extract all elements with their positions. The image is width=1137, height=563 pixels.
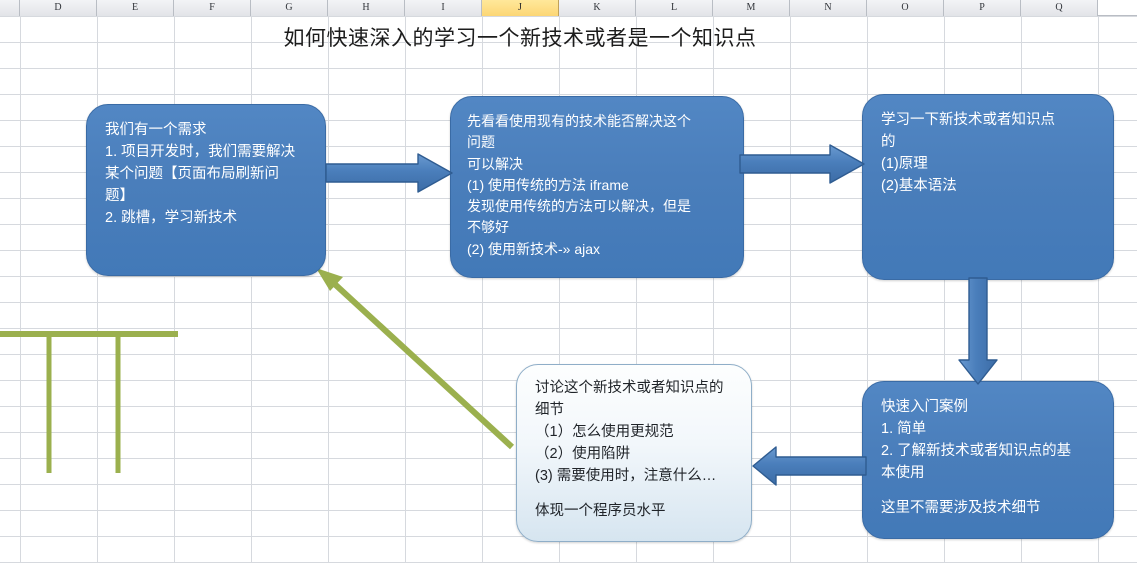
column-header-h[interactable]: H xyxy=(328,0,405,16)
column-header-q[interactable]: Q xyxy=(1021,0,1098,16)
node-line: (1) 使用传统的方法 iframe xyxy=(467,175,729,196)
flow-node-existing-tech[interactable]: 先看看使用现有的技术能否解决这个 问题 可以解决 (1) 使用传统的方法 ifr… xyxy=(450,96,744,278)
node-line: (1)原理 xyxy=(881,153,1099,175)
node-line: （2）使用陷阱 xyxy=(535,443,737,465)
node-line: 快速入门案例 xyxy=(881,396,1099,418)
arrow-right-icon xyxy=(740,143,866,185)
node-line: 先看看使用现有的技术能否解决这个 xyxy=(467,111,729,132)
column-header-o[interactable]: O xyxy=(867,0,944,16)
column-header-m[interactable]: M xyxy=(713,0,790,16)
flow-node-discuss-details[interactable]: 讨论这个新技术或者知识点的 细节 （1）怎么使用更规范 （2）使用陷阱 (3) … xyxy=(516,364,752,542)
node-line: 我们有一个需求 xyxy=(105,119,311,141)
connector-arrow-down[interactable] xyxy=(958,278,1000,386)
page-title: 如何快速深入的学习一个新技术或者是一个知识点 xyxy=(250,22,790,52)
node-line: （1）怎么使用更规范 xyxy=(535,421,737,443)
node-line: 的 xyxy=(881,131,1099,153)
node-line: 不够好 xyxy=(467,217,729,238)
flow-node-requirement[interactable]: 我们有一个需求 1. 项目开发时，我们需要解决 某个问题【页面布局刷新问 题】 … xyxy=(86,104,326,276)
node-line: 1. 项目开发时，我们需要解决 xyxy=(105,141,311,163)
column-header-partial[interactable] xyxy=(0,0,20,16)
column-header-g[interactable]: G xyxy=(251,0,328,16)
node-line: 1. 简单 xyxy=(881,418,1099,440)
arrow-down-icon xyxy=(958,278,1000,386)
node-line: 2. 了解新技术或者知识点的基 xyxy=(881,440,1099,462)
node-line: 学习一下新技术或者知识点 xyxy=(881,109,1099,131)
arrow-right-icon xyxy=(326,152,454,194)
spreadsheet-flowchart-canvas: D E F G H I J K L M N O P Q 如何快速深入的学习一个新… xyxy=(0,0,1137,563)
node-line: 问题 xyxy=(467,132,729,153)
node-line-spacer xyxy=(881,484,1099,497)
column-header-i[interactable]: I xyxy=(405,0,482,16)
connector-arrow-left[interactable] xyxy=(752,445,868,487)
column-header-k[interactable]: K xyxy=(559,0,636,16)
node-line: (3) 需要使用时，注意什么… xyxy=(535,465,737,487)
column-header-n[interactable]: N xyxy=(790,0,867,16)
column-header-d[interactable]: D xyxy=(20,0,97,16)
connector-arrow-right-2[interactable] xyxy=(740,143,866,185)
arrow-left-icon xyxy=(752,445,868,487)
node-line: 2. 跳槽，学习新技术 xyxy=(105,207,311,229)
node-line: (2)基本语法 xyxy=(881,175,1099,197)
column-header-e[interactable]: E xyxy=(97,0,174,16)
column-header-j[interactable]: J xyxy=(482,0,559,16)
column-header-f[interactable]: F xyxy=(174,0,251,16)
connector-arrow-right-1[interactable] xyxy=(326,152,454,194)
flow-node-quickstart-example[interactable]: 快速入门案例 1. 简单 2. 了解新技术或者知识点的基 本使用 这里不需要涉及… xyxy=(862,381,1114,539)
node-line: 可以解决 xyxy=(467,154,729,175)
node-line: 讨论这个新技术或者知识点的 xyxy=(535,377,737,399)
flow-node-learn-new-tech[interactable]: 学习一下新技术或者知识点 的 (1)原理 (2)基本语法 xyxy=(862,94,1114,280)
node-line: 这里不需要涉及技术细节 xyxy=(881,497,1099,519)
column-header-row: D E F G H I J K L M N O P Q xyxy=(0,0,1137,16)
node-line: 本使用 xyxy=(881,462,1099,484)
column-header-l[interactable]: L xyxy=(636,0,713,16)
node-line: 体现一个程序员水平 xyxy=(535,500,737,522)
column-header-p[interactable]: P xyxy=(944,0,1021,16)
node-line: 某个问题【页面布局刷新问 xyxy=(105,163,311,185)
node-line: (2) 使用新技术-» ajax xyxy=(467,239,729,260)
node-line: 细节 xyxy=(535,399,737,421)
node-line-spacer xyxy=(535,487,737,500)
node-line: 发现使用传统的方法可以解决，但是 xyxy=(467,196,729,217)
node-line: 题】 xyxy=(105,185,311,207)
